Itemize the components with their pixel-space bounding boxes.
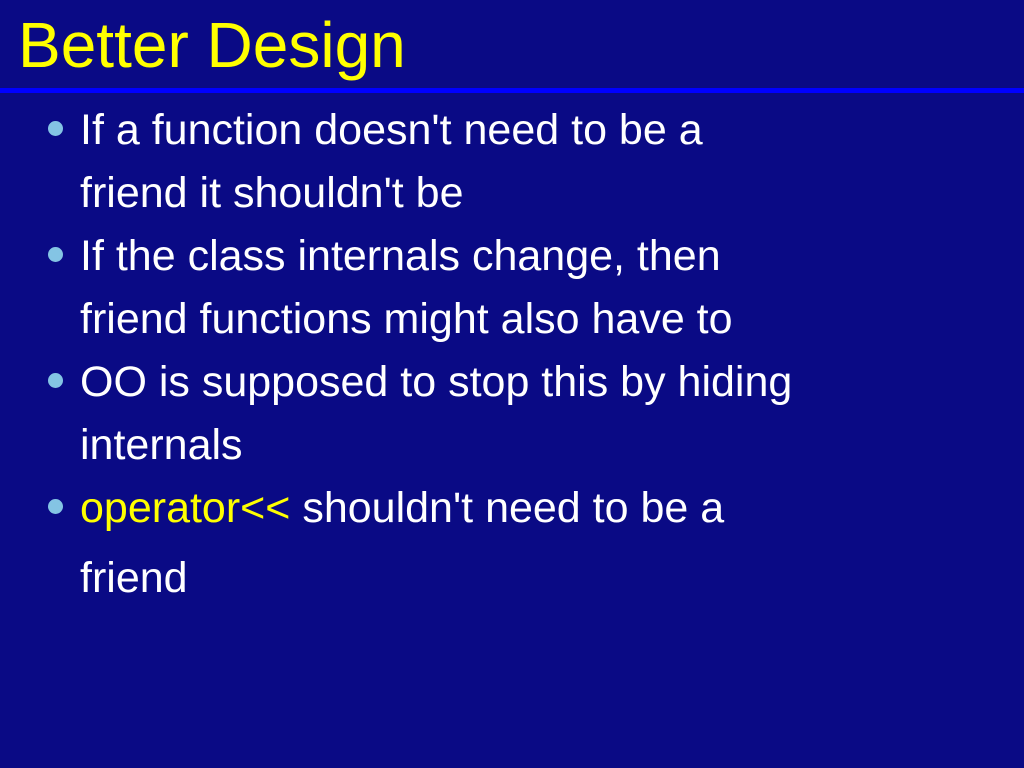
bullet-text-3: OO is supposed to stop this by hiding in… (80, 351, 980, 477)
round-bullet-icon (48, 373, 63, 388)
list-item: OO is supposed to stop this by hiding in… (0, 351, 1024, 477)
round-bullet-icon (48, 499, 63, 514)
bullet-line: If a function doesn't need to be a (80, 99, 980, 162)
slide-title: Better Design (18, 2, 406, 88)
round-bullet-icon (48, 247, 63, 262)
round-bullet-icon (48, 121, 63, 136)
list-item: If a function doesn't need to be a frien… (0, 99, 1024, 225)
code-operator-token: operator<< (80, 484, 290, 532)
bullet-line: OO is supposed to stop this by hiding (80, 351, 980, 414)
bullet-text-1: If a function doesn't need to be a frien… (80, 99, 980, 225)
bullet-line-remainder: shouldn't need to be a (290, 484, 724, 532)
bullet-line: friend functions might also have to (80, 288, 980, 351)
bullet-line: operator<< shouldn't need to be a (80, 477, 980, 540)
bullet-text-4: operator<< shouldn't need to be a friend (80, 477, 980, 616)
list-item: If the class internals change, then frie… (0, 225, 1024, 351)
slide-canvas: Better Design If a function doesn't need… (0, 0, 1024, 768)
bullet-line: friend it shouldn't be (80, 162, 980, 225)
slide-body: If a function doesn't need to be a frien… (0, 99, 1024, 616)
bullet-line: If the class internals change, then (80, 225, 980, 288)
bullet-text-2: If the class internals change, then frie… (80, 225, 980, 351)
title-divider-rule (0, 88, 1024, 93)
list-item: operator<< shouldn't need to be a friend (0, 477, 1024, 616)
bullet-line: internals (80, 414, 980, 477)
bullet-line: friend (80, 540, 980, 616)
